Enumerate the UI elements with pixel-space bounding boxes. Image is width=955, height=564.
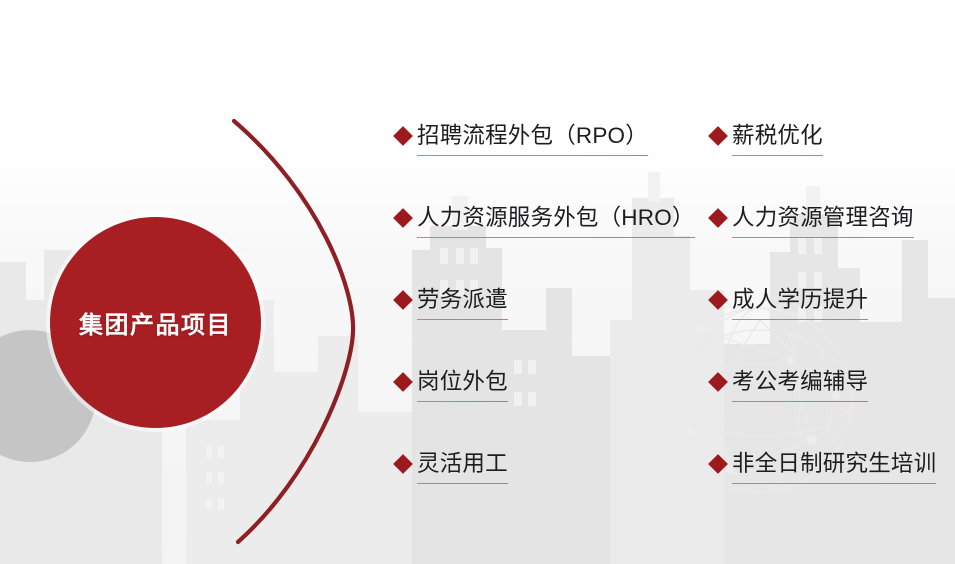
product-list-right: 薪税优化 人力资源管理咨询 成人学历提升 考公考编辅导: [711, 124, 936, 534]
diamond-icon: [393, 126, 413, 146]
list-item[interactable]: 成人学历提升: [711, 288, 936, 370]
diamond-icon: [393, 372, 413, 392]
list-item-label: 成人学历提升: [732, 288, 868, 313]
item-underline: [417, 155, 648, 156]
list-item[interactable]: 岗位外包: [396, 370, 695, 452]
list-item-label: 招聘流程外包（RPO）: [417, 124, 648, 149]
slide-canvas: 集团产品项目 招聘流程外包（RPO） 人力资源服务外包（HRO） 劳务派遣: [0, 0, 955, 564]
diamond-icon: [708, 290, 728, 310]
list-item[interactable]: 招聘流程外包（RPO）: [396, 124, 695, 206]
list-item-label: 劳务派遣: [417, 288, 508, 313]
item-underline: [732, 319, 868, 320]
list-item-label: 灵活用工: [417, 452, 508, 477]
list-item[interactable]: 人力资源服务外包（HRO）: [396, 206, 695, 288]
diamond-icon: [708, 126, 728, 146]
item-underline: [417, 319, 508, 320]
diamond-icon: [393, 454, 413, 474]
list-item-label: 非全日制研究生培训: [732, 452, 936, 477]
item-underline: [417, 401, 508, 402]
item-underline: [732, 237, 914, 238]
diamond-icon: [708, 208, 728, 228]
list-item[interactable]: 灵活用工: [396, 452, 695, 534]
list-item[interactable]: 薪税优化: [711, 124, 936, 206]
list-item[interactable]: 劳务派遣: [396, 288, 695, 370]
diamond-icon: [708, 372, 728, 392]
list-item-label: 人力资源服务外包（HRO）: [417, 206, 695, 231]
item-underline: [417, 237, 695, 238]
list-item-label: 人力资源管理咨询: [732, 206, 914, 231]
product-list-left: 招聘流程外包（RPO） 人力资源服务外包（HRO） 劳务派遣 岗位外包: [396, 124, 695, 534]
hub-circle: 集团产品项目: [50, 217, 261, 428]
diamond-icon: [708, 454, 728, 474]
item-underline: [417, 483, 508, 484]
list-item[interactable]: 考公考编辅导: [711, 370, 936, 452]
item-underline: [732, 401, 868, 402]
hub-label: 集团产品项目: [79, 305, 232, 340]
item-underline: [732, 483, 936, 484]
list-item-label: 薪税优化: [732, 124, 823, 149]
list-item-label: 考公考编辅导: [732, 370, 868, 395]
list-item[interactable]: 人力资源管理咨询: [711, 206, 936, 288]
item-underline: [732, 155, 823, 156]
diamond-icon: [393, 290, 413, 310]
diamond-icon: [393, 208, 413, 228]
list-item-label: 岗位外包: [417, 370, 508, 395]
list-item[interactable]: 非全日制研究生培训: [711, 452, 936, 534]
